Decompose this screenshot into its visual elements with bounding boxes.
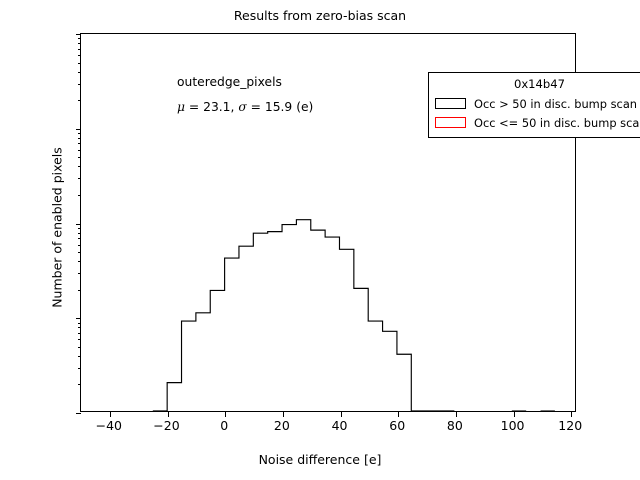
legend-entry-occ-gt-50[interactable]: Occ > 50 in disc. bump scan — [435, 94, 640, 113]
y-tick-minor — [78, 195, 81, 196]
legend-swatch-black — [435, 98, 466, 109]
y-tick-minor — [78, 323, 81, 324]
y-tick-minor — [78, 327, 81, 328]
x-tick-major — [571, 411, 572, 417]
y-tick-major — [76, 413, 82, 414]
figure-canvas: Results from zero-bias scan Number of en… — [0, 0, 640, 480]
histogram-step-outline — [153, 220, 455, 411]
x-tick-major — [110, 411, 111, 417]
y-axis-label: Number of enabled pixels — [50, 38, 65, 418]
legend-swatch-red — [435, 117, 466, 128]
y-tick-major — [76, 318, 82, 319]
y-tick-minor — [78, 252, 81, 253]
x-tick-major — [168, 411, 169, 417]
annotation-block: outeredge_pixels μ = 23.1, σ = 15.9 (e) — [177, 76, 313, 114]
y-tick-minor — [78, 368, 81, 369]
x-axis-label: Noise difference [e] — [0, 452, 640, 467]
y-tick-minor — [78, 49, 81, 50]
y-tick-minor — [78, 339, 81, 340]
y-tick-minor — [78, 384, 81, 385]
x-tick-major — [514, 411, 515, 417]
x-tick-major — [456, 411, 457, 417]
y-tick-minor — [78, 356, 81, 357]
y-tick-minor — [78, 84, 81, 85]
y-tick-minor — [78, 72, 81, 73]
y-tick-minor — [78, 63, 81, 64]
y-tick-minor — [78, 55, 81, 56]
y-tick-minor — [78, 273, 81, 274]
annotation-stats: μ = 23.1, σ = 15.9 (e) — [177, 101, 313, 113]
y-tick-minor — [78, 290, 81, 291]
x-tick-major — [341, 411, 342, 417]
y-tick-minor — [78, 238, 81, 239]
y-tick-major — [76, 129, 82, 130]
y-tick-minor — [78, 38, 81, 39]
y-tick-major — [76, 224, 82, 225]
mu-symbol: μ — [177, 100, 185, 114]
y-tick-minor — [78, 157, 81, 158]
legend-entry-occ-le-50[interactable]: Occ <= 50 in disc. bump scan — [435, 113, 640, 132]
x-tick-label: −20 — [153, 418, 179, 433]
legend-label-occ-le-50: Occ <= 50 in disc. bump scan — [474, 116, 640, 130]
y-tick-minor — [78, 261, 81, 262]
sigma-equals: = — [247, 100, 265, 114]
y-tick-minor — [78, 347, 81, 348]
x-tick-label: 0 — [220, 418, 228, 433]
stats-units: (e) — [296, 100, 313, 114]
mu-value: 23.1 — [203, 100, 230, 114]
sigma-symbol: σ — [238, 100, 246, 114]
x-tick-major — [225, 411, 226, 417]
y-tick-minor — [78, 143, 81, 144]
y-tick-minor — [78, 333, 81, 334]
x-tick-label: −40 — [96, 418, 122, 433]
legend-label-occ-gt-50: Occ > 50 in disc. bump scan — [474, 97, 637, 111]
y-tick-minor — [78, 133, 81, 134]
x-tick-label: 40 — [332, 418, 348, 433]
y-tick-minor — [78, 233, 81, 234]
x-tick-major — [283, 411, 284, 417]
x-tick-major — [398, 411, 399, 417]
y-tick-minor — [78, 100, 81, 101]
mu-equals: = — [185, 100, 203, 114]
y-tick-minor — [78, 178, 81, 179]
x-tick-label: 80 — [447, 418, 463, 433]
y-tick-minor — [78, 228, 81, 229]
x-tick-label: 20 — [274, 418, 290, 433]
y-tick-minor — [78, 43, 81, 44]
chart-title: Results from zero-bias scan — [0, 8, 640, 23]
sigma-value: 15.9 — [265, 100, 292, 114]
x-tick-label: 100 — [501, 418, 525, 433]
y-tick-minor — [78, 138, 81, 139]
y-tick-minor — [78, 150, 81, 151]
x-tick-label: 60 — [389, 418, 405, 433]
y-tick-minor — [78, 166, 81, 167]
plot-axes: Number of enabled pixels outeredge_pixel… — [80, 33, 576, 412]
annotation-dataset-name: outeredge_pixels — [177, 76, 313, 88]
chart-legend[interactable]: 0x14b47 Occ > 50 in disc. bump scan Occ … — [428, 72, 640, 138]
legend-title: 0x14b47 — [435, 77, 640, 91]
y-tick-major — [76, 34, 82, 35]
y-tick-minor — [78, 245, 81, 246]
x-tick-label: 120 — [558, 418, 582, 433]
